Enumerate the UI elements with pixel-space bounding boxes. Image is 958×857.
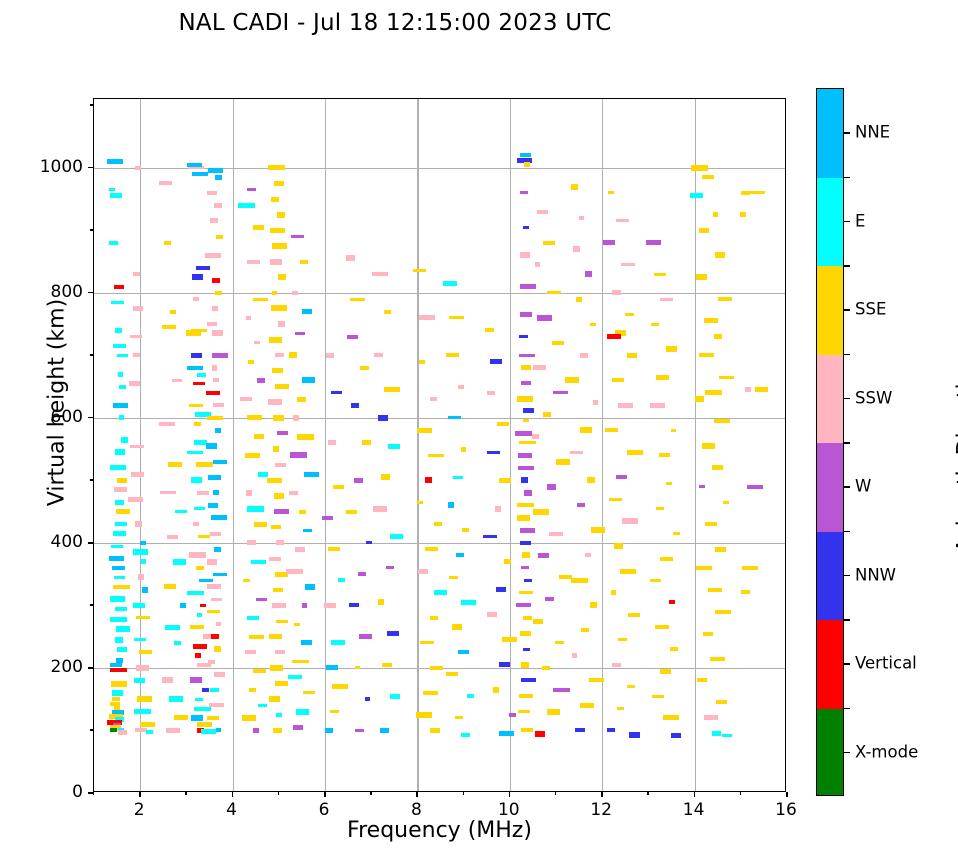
colorbar-label-ssw: SSW [855, 388, 892, 407]
data-point [549, 532, 563, 536]
data-point [355, 729, 364, 732]
data-point [162, 677, 173, 683]
data-point [187, 163, 202, 167]
data-point [378, 415, 388, 421]
data-point [119, 415, 124, 420]
data-point [141, 559, 146, 564]
data-point [552, 341, 564, 345]
data-point [521, 566, 529, 569]
plot-area[interactable] [93, 98, 786, 792]
data-point [571, 184, 578, 190]
data-point [458, 650, 469, 654]
y-tick-minor [90, 229, 93, 230]
data-point [253, 728, 259, 733]
data-point [253, 669, 266, 673]
data-point [347, 335, 358, 339]
data-point [502, 637, 517, 642]
data-point [133, 549, 148, 555]
colorbar-tick [844, 486, 850, 488]
data-point [278, 321, 285, 327]
y-tick [88, 667, 93, 669]
data-point [113, 403, 128, 408]
data-point [517, 515, 530, 521]
data-point [420, 641, 434, 644]
data-point [109, 241, 118, 245]
data-point [254, 522, 267, 527]
data-point [109, 188, 115, 191]
x-tick-label: 8 [411, 800, 422, 820]
data-point [269, 696, 280, 702]
data-point [190, 625, 204, 629]
data-point [423, 691, 438, 695]
data-point [273, 446, 279, 452]
data-point [213, 403, 224, 407]
data-point [213, 460, 227, 464]
data-point [612, 663, 621, 667]
data-point [212, 330, 223, 336]
gridline-horizontal [94, 293, 785, 294]
data-point [358, 572, 366, 576]
data-point [194, 422, 201, 426]
data-point [188, 166, 204, 169]
data-point [535, 731, 545, 737]
x-tick-minor [93, 792, 94, 795]
data-point [247, 260, 260, 264]
data-point [180, 603, 186, 608]
data-point [256, 598, 267, 601]
data-point [195, 653, 201, 658]
data-point [294, 623, 300, 626]
x-tick-minor [647, 792, 648, 795]
data-point [618, 403, 633, 408]
colorbar-segment-nne[interactable] [817, 89, 843, 178]
data-point [666, 482, 672, 485]
data-point [587, 477, 595, 483]
colorbar-tick [844, 132, 850, 134]
data-point [110, 465, 126, 470]
data-point [275, 384, 289, 389]
data-point [111, 545, 123, 548]
data-point [189, 552, 206, 558]
data-point [518, 453, 532, 458]
data-point [290, 452, 307, 458]
data-point [245, 650, 256, 654]
data-point [322, 516, 333, 520]
x-tick [232, 792, 234, 797]
data-point [346, 510, 357, 514]
data-point [521, 678, 536, 682]
colorbar-boundary-tick [844, 442, 850, 444]
data-point [616, 475, 627, 479]
y-tick-label: 200 [23, 657, 83, 677]
colorbar[interactable] [816, 88, 844, 796]
data-point [616, 219, 629, 222]
data-point [115, 522, 127, 526]
data-point [160, 491, 176, 494]
data-point [351, 403, 359, 408]
data-point [275, 650, 285, 654]
data-point [251, 560, 266, 564]
data-point [520, 153, 531, 157]
data-point [430, 666, 443, 670]
colorbar-tick [844, 575, 850, 577]
data-point [211, 634, 219, 639]
data-point [715, 610, 731, 614]
data-point [338, 578, 345, 582]
y-tick [88, 417, 93, 419]
data-point [660, 669, 671, 674]
data-point [278, 274, 286, 280]
data-point [627, 450, 643, 455]
data-point [274, 509, 289, 514]
data-point [168, 462, 182, 467]
data-point [354, 478, 363, 483]
data-point [520, 284, 536, 289]
colorbar-segment-x-mode[interactable] [817, 709, 843, 797]
data-point [213, 490, 219, 495]
colorbar-label-nne: NNE [855, 123, 890, 142]
data-point [207, 716, 219, 720]
data-point [296, 709, 309, 715]
data-point [270, 259, 282, 265]
data-point [268, 165, 285, 170]
data-point [207, 322, 217, 326]
data-point [115, 637, 123, 643]
data-point [380, 728, 389, 733]
data-point [173, 559, 186, 565]
y-tick-minor [90, 604, 93, 605]
data-point [487, 391, 495, 395]
data-point [565, 377, 579, 383]
data-point [608, 191, 614, 194]
data-point [196, 566, 204, 570]
data-point [490, 359, 502, 364]
data-point [134, 638, 146, 641]
data-point [175, 510, 187, 513]
data-point [325, 728, 333, 733]
data-point [509, 713, 516, 717]
data-point [580, 703, 594, 708]
data-point [378, 599, 384, 605]
colorbar-tick [844, 663, 850, 665]
data-point [656, 375, 669, 380]
colorbar-segment-vertical[interactable] [817, 620, 843, 709]
data-point [140, 541, 146, 545]
data-point [118, 730, 127, 735]
data-point [328, 547, 340, 551]
colorbar-label-sse: SSE [855, 300, 886, 319]
data-point [212, 365, 217, 371]
data-point [628, 613, 640, 617]
ionogram-figure: NAL CADI - Jul 18 12:15:00 2023 UTC 2468… [0, 0, 958, 857]
data-point [133, 306, 143, 311]
data-point [246, 490, 252, 496]
data-point [113, 344, 126, 348]
data-point [618, 638, 627, 641]
data-point [708, 588, 722, 592]
data-point [212, 306, 218, 311]
data-point [718, 297, 732, 301]
data-point [520, 191, 528, 194]
data-point [495, 506, 501, 512]
data-point [272, 603, 286, 608]
data-point [413, 269, 426, 272]
y-tick [88, 292, 93, 294]
x-tick-minor [278, 792, 279, 795]
y-tick-minor [90, 354, 93, 355]
data-point [458, 385, 464, 389]
data-point [115, 607, 127, 611]
data-point [303, 529, 312, 532]
data-point [524, 579, 532, 582]
data-point [467, 694, 474, 698]
data-point [519, 694, 533, 698]
data-point [121, 437, 128, 443]
data-point [187, 451, 203, 454]
data-point [448, 502, 454, 508]
data-point [671, 429, 676, 432]
data-point [197, 613, 202, 617]
data-point [651, 323, 659, 326]
data-point [215, 175, 222, 180]
data-point [291, 235, 304, 238]
data-point [216, 622, 221, 626]
data-point [135, 521, 142, 527]
data-point [504, 559, 511, 564]
data-point [521, 381, 531, 385]
data-point [655, 625, 669, 629]
data-point [301, 640, 312, 645]
data-point [286, 569, 303, 574]
data-point [200, 604, 206, 607]
data-point [516, 603, 531, 607]
data-point [136, 665, 149, 671]
data-point [350, 298, 365, 301]
data-point [612, 290, 621, 295]
data-point [390, 694, 400, 699]
data-point [533, 509, 549, 515]
data-point [547, 291, 561, 294]
data-point [199, 579, 213, 582]
colorbar-label-nnw: NNW [855, 565, 896, 584]
data-point [215, 428, 221, 433]
data-point [461, 447, 466, 452]
data-point [247, 506, 264, 512]
data-point [515, 431, 532, 436]
y-tick [88, 792, 93, 794]
data-point [443, 281, 457, 286]
data-point [430, 397, 437, 401]
data-point [110, 617, 127, 622]
data-point [254, 434, 264, 439]
data-point [580, 353, 588, 358]
colorbar-boundary-tick [844, 619, 850, 621]
data-point [519, 441, 536, 444]
data-point [543, 412, 551, 417]
y-axis-label: Virtual height (km) [45, 253, 70, 553]
data-point [112, 690, 123, 696]
data-point [589, 678, 604, 682]
data-point [696, 566, 712, 570]
data-point [712, 731, 721, 736]
data-point [622, 518, 638, 524]
data-point [268, 399, 282, 405]
data-point [716, 700, 727, 704]
data-point [214, 547, 221, 552]
data-point [207, 416, 223, 420]
data-point [553, 688, 570, 692]
x-tick-minor [463, 792, 464, 795]
data-point [109, 556, 124, 561]
data-point [114, 576, 125, 579]
data-point [517, 503, 534, 507]
data-point [603, 240, 615, 245]
colorbar-segment-nnw[interactable] [817, 532, 843, 621]
data-point [324, 603, 336, 608]
data-point [652, 695, 664, 698]
data-point [247, 188, 256, 191]
data-point [748, 191, 765, 194]
data-point [449, 316, 464, 319]
data-point [159, 181, 172, 185]
data-point [607, 728, 615, 732]
x-tick-label: 12 [590, 800, 612, 820]
data-point [704, 318, 718, 323]
data-point [254, 341, 260, 344]
data-point [297, 434, 314, 440]
data-point [741, 590, 750, 594]
data-point [627, 685, 635, 688]
data-point [208, 503, 218, 508]
data-point [742, 566, 758, 570]
data-point [207, 610, 220, 613]
data-point [705, 522, 717, 526]
data-point [499, 731, 514, 736]
data-point [518, 466, 534, 470]
data-point [211, 598, 222, 601]
data-point [289, 352, 297, 358]
data-point [299, 510, 306, 514]
data-point [193, 522, 199, 526]
data-point [660, 298, 673, 301]
data-point [533, 619, 543, 624]
data-point [210, 532, 221, 536]
data-point [271, 197, 279, 202]
data-point [499, 662, 510, 667]
data-point [696, 274, 707, 280]
data-point [573, 246, 580, 252]
data-point [275, 353, 284, 357]
data-point [295, 332, 305, 335]
data-point [269, 557, 281, 561]
data-point [111, 681, 127, 687]
data-point [159, 422, 175, 426]
data-point [719, 376, 734, 379]
data-point [521, 662, 529, 668]
data-point [355, 666, 360, 669]
colorbar-segment-sse[interactable] [817, 266, 843, 355]
data-point [269, 634, 282, 639]
data-point [517, 396, 533, 402]
data-point [446, 672, 458, 676]
data-point [201, 729, 216, 734]
data-point [382, 663, 392, 667]
data-point [671, 733, 681, 738]
data-point [186, 330, 201, 336]
data-point [249, 635, 264, 639]
data-point [208, 475, 221, 480]
colorbar-segment-w[interactable] [817, 443, 843, 532]
data-point [162, 325, 176, 329]
data-point [253, 298, 268, 301]
data-point [240, 397, 252, 401]
data-point [483, 535, 497, 538]
data-point [207, 191, 217, 195]
data-point [292, 291, 298, 295]
data-point [449, 576, 458, 579]
data-point [136, 616, 150, 619]
data-point [417, 428, 432, 433]
data-point [302, 377, 315, 383]
data-point [704, 715, 718, 720]
data-point [205, 253, 221, 258]
data-point [107, 159, 123, 164]
data-point [617, 707, 624, 710]
colorbar-segment-e[interactable] [817, 178, 843, 267]
data-point [117, 647, 127, 652]
data-point [130, 335, 142, 338]
data-point [331, 640, 345, 645]
data-point [715, 252, 725, 258]
data-point [114, 487, 127, 492]
data-point [703, 632, 713, 636]
data-point [453, 476, 463, 479]
data-point [579, 216, 584, 220]
data-point [497, 422, 509, 426]
data-point [387, 631, 399, 636]
data-point [146, 730, 153, 734]
data-point [611, 590, 616, 595]
data-point [113, 585, 130, 589]
y-tick [88, 542, 93, 544]
data-point [496, 587, 506, 592]
x-tick [786, 792, 788, 797]
colorbar-segment-ssw[interactable] [817, 355, 843, 444]
data-point [195, 698, 203, 701]
data-point [699, 228, 709, 233]
data-point [518, 710, 530, 713]
data-point [274, 181, 284, 186]
data-point [591, 527, 605, 533]
gridline-vertical [695, 99, 696, 791]
data-point [275, 463, 286, 467]
data-point [172, 379, 182, 382]
data-point [135, 166, 141, 170]
gridline-vertical [325, 99, 326, 791]
data-point [196, 266, 210, 270]
data-point [269, 337, 282, 343]
data-point [690, 193, 703, 198]
data-point [246, 316, 251, 320]
data-point [208, 168, 223, 173]
data-point [346, 255, 355, 261]
data-point [697, 678, 707, 682]
data-point [699, 353, 714, 357]
data-point [523, 408, 534, 413]
data-point [295, 547, 305, 552]
data-point [134, 678, 145, 683]
x-tick-label: 16 [775, 800, 797, 820]
